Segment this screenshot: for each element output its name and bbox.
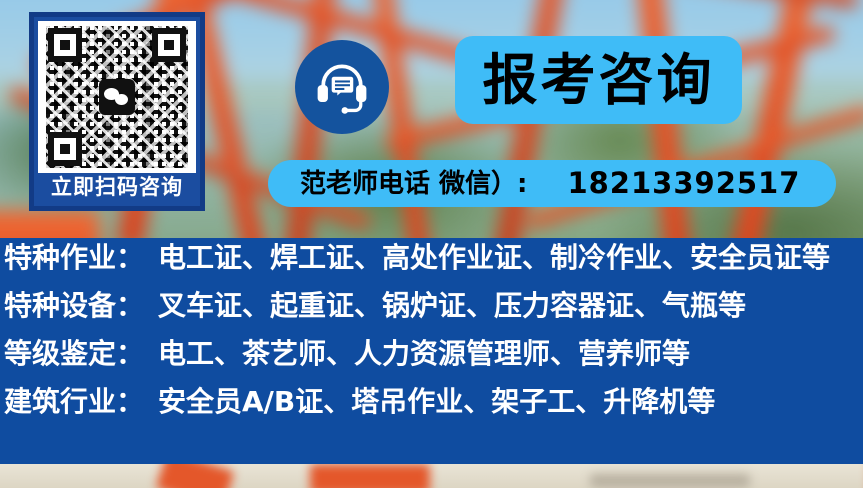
- strip-object: [590, 474, 750, 488]
- qr-finder-top-left: [48, 28, 82, 62]
- category-items: 叉车证、起重证、锅炉证、压力容器证、气瓶等: [158, 292, 746, 320]
- qr-code-panel[interactable]: 立即扫码咨询: [29, 12, 205, 211]
- bottom-photo-strip: [0, 464, 863, 488]
- qr-code-frame: [38, 21, 196, 173]
- advertisement-poster: 立即扫码咨询 报考咨询 范老师电话 微信）: 18213392517 特种作业：…: [0, 0, 863, 488]
- qr-finder-bottom-left: [48, 132, 82, 166]
- contact-label: 范老师电话 微信）:: [300, 171, 527, 197]
- category-items: 安全员A/B证、塔吊作业、架子工、升降机等: [158, 388, 715, 416]
- category-items: 电工、茶艺师、人力资源管理师、营养师等: [158, 340, 690, 368]
- phone-number[interactable]: 18213392517: [567, 169, 800, 198]
- category-label: 特种设备：: [4, 292, 144, 320]
- strip-object: [310, 464, 430, 488]
- title-banner: 报考咨询: [455, 36, 742, 124]
- category-label: 特种作业：: [4, 244, 144, 272]
- category-row: 建筑行业： 安全员A/B证、塔吊作业、架子工、升降机等: [0, 388, 863, 436]
- category-items: 电工证、焊工证、高处作业证、制冷作业、安全员证等: [158, 244, 830, 272]
- qr-code-image: [46, 26, 188, 168]
- strip-object: [156, 464, 235, 488]
- wechat-bubble-small: [115, 94, 128, 105]
- category-label: 建筑行业：: [4, 388, 144, 416]
- category-list: 特种作业： 电工证、焊工证、高处作业证、制冷作业、安全员证等 特种设备： 叉车证…: [0, 238, 863, 464]
- page-title: 报考咨询: [482, 53, 714, 108]
- qr-caption: 立即扫码咨询: [51, 177, 183, 198]
- wechat-bubbles: [104, 88, 130, 106]
- wechat-icon: [99, 79, 135, 115]
- contact-pill[interactable]: 范老师电话 微信）: 18213392517: [268, 160, 836, 207]
- category-label: 等级鉴定：: [4, 340, 144, 368]
- qr-finder-top-right: [152, 28, 186, 62]
- category-row: 特种作业： 电工证、焊工证、高处作业证、制冷作业、安全员证等: [0, 244, 863, 292]
- bottom-strip-blur-layer: [0, 464, 863, 488]
- category-row: 特种设备： 叉车证、起重证、锅炉证、压力容器证、气瓶等: [0, 292, 863, 340]
- headset-support-icon: [295, 40, 389, 134]
- category-row: 等级鉴定： 电工、茶艺师、人力资源管理师、营养师等: [0, 340, 863, 388]
